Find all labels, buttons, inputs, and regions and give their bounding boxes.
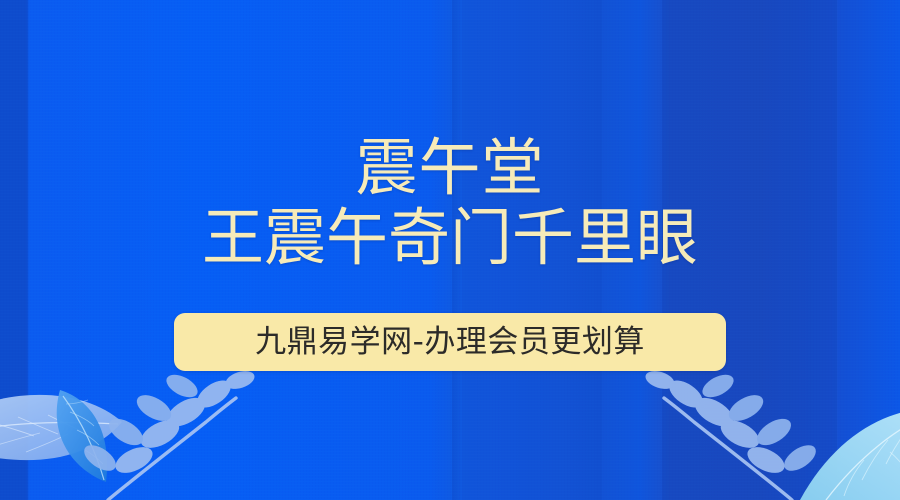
- poster-canvas: 震午堂 王震午奇门千里眼 九鼎易学网-办理会员更划算: [0, 0, 900, 500]
- cta-container: 九鼎易学网-办理会员更划算: [174, 313, 726, 371]
- poster-content: 震午堂 王震午奇门千里眼 九鼎易学网-办理会员更划算: [0, 0, 900, 500]
- page-title: 震午堂 王震午奇门千里眼: [202, 137, 698, 269]
- title-line-1: 震午堂: [202, 137, 698, 199]
- title-line-2: 王震午奇门千里眼: [202, 207, 698, 269]
- membership-cta-button[interactable]: 九鼎易学网-办理会员更划算: [174, 313, 726, 371]
